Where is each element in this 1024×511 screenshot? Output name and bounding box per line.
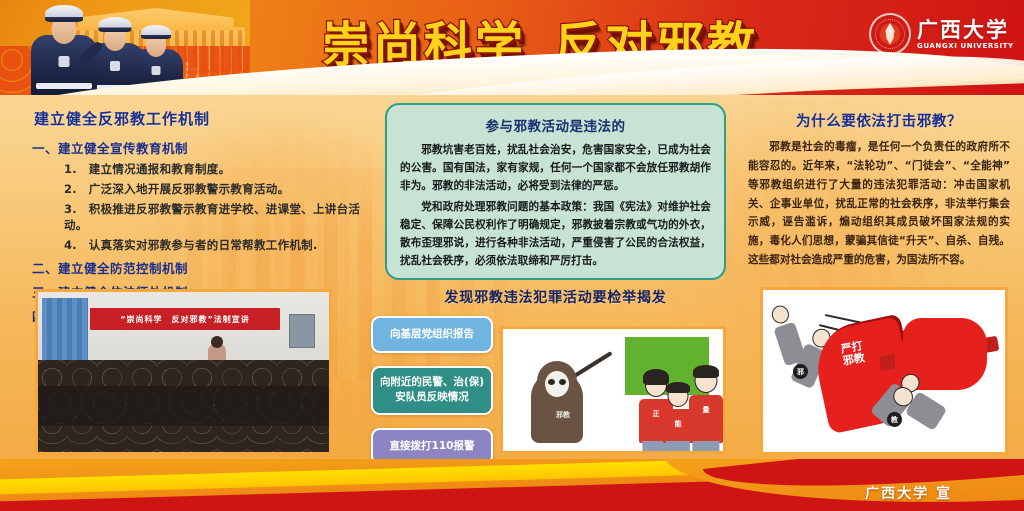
left-subitem-1-2: 2. 广泛深入地开展反邪教警示教育活动。	[64, 181, 372, 197]
cult-victim-label-xie: 邪	[793, 364, 808, 379]
police-officer-1-saluting	[28, 17, 100, 95]
left-subitem-1-1: 1. 建立情况通报和教育制度。	[64, 161, 372, 177]
hero-3-hair-icon	[693, 365, 719, 378]
hero-2-hair-icon	[666, 382, 690, 393]
left-subitem-1-4: 4. 认真落实对邪教参与者的日常帮教工作机制.	[64, 237, 372, 253]
cult-vs-positive-energy-cartoon: 邪教 正 量 能	[500, 326, 726, 454]
lecture-banner-text: “崇尚科学 反对邪教”法制宣讲	[120, 314, 250, 325]
footer-bar: 广西大学 宣	[0, 459, 1024, 511]
guangxi-university-emblem-icon	[869, 13, 911, 55]
green-box-paragraph-1: 邪教坑害老百姓，扰乱社会治安，危害国家安全，已成为社会的公害。国有国法，家有家规…	[400, 141, 711, 196]
hero-figure-2: 能	[663, 409, 693, 443]
left-item-1: 一、建立健全宣传教育机制	[32, 138, 372, 157]
right-column: 为什么要依法打击邪教？ 邪教是社会的毒瘤，是任何一个负责任的政府所不能容忍的。近…	[748, 110, 1010, 270]
hero-1-hair-icon	[643, 369, 669, 385]
crackdown-cartoon: 邪 严打邪教 教	[760, 287, 1008, 455]
lecture-banner: “崇尚科学 反对邪教”法制宣讲	[90, 308, 280, 330]
logo-name-cn: 广西大学	[917, 19, 1014, 40]
report-button-party-organization[interactable]: 向基层党组织报告	[371, 316, 493, 353]
right-column-paragraph: 邪教是社会的毒瘤，是任何一个负责任的政府所不能容忍的。近年来，“法轮功”、“门徒…	[748, 138, 1010, 270]
report-heading: 发现邪教违法犯罪活动要检举揭发	[385, 287, 726, 307]
scythe-icon	[571, 351, 612, 379]
green-info-box: 参与邪教活动是违法的 邪教坑害老百姓，扰乱社会治安，危害国家安全，已成为社会的公…	[385, 103, 726, 280]
footer-attribution: 广西大学 宣	[865, 483, 952, 503]
axe-slogan-label: 严打邪教	[839, 340, 867, 368]
green-box-title: 参与邪教活动是违法的	[400, 115, 711, 135]
hero-2-legs	[666, 441, 690, 454]
logo-text-block: 广西大学 GUANGXI UNIVERSITY	[917, 19, 1014, 50]
hero-2-label: 能	[663, 419, 693, 429]
cult-victim-label-jiao: 教	[887, 412, 902, 427]
wall-poster-icon	[289, 314, 315, 348]
right-column-heading: 为什么要依法打击邪教？	[748, 110, 1010, 131]
left-item-2: 二、建立健全防范控制机制	[32, 258, 372, 277]
cult-victim-1-head-icon	[770, 303, 792, 325]
hero-figure-3: 量	[689, 395, 723, 443]
anti-cult-propaganda-poster: 崇尚科学 反对邪教 广西大学 GUANGXI UNIVERSITY 建立健全反邪…	[0, 0, 1024, 511]
lecture-photo: “崇尚科学 反对邪教”法制宣讲	[35, 289, 332, 455]
left-subitem-1-3: 3. 积极推进反邪教警示教育进学校、进课堂、上讲台活动。	[64, 201, 372, 233]
cult-victim-4	[905, 391, 948, 431]
hero-3-legs	[692, 441, 719, 454]
audience-heads	[38, 386, 329, 426]
report-button-local-police[interactable]: 向附近的民警、治(保)安队员反映情况	[371, 366, 493, 414]
hero-3-label: 量	[689, 405, 723, 415]
logo-name-en: GUANGXI UNIVERSITY	[917, 43, 1014, 50]
left-column-heading: 建立健全反邪教工作机制	[34, 108, 372, 129]
cult-figure-label: 邪教	[543, 411, 583, 419]
header-banner: 崇尚科学 反对邪教 广西大学 GUANGXI UNIVERSITY	[0, 0, 1024, 95]
cult-figure-skull-face-icon	[545, 371, 569, 397]
green-box-paragraph-2: 党和政府处理邪教问题的基本政策：我国《宪法》对维护社会稳定、保障公民权利作了明确…	[400, 198, 711, 271]
report-channel-buttons: 向基层党组织报告 向附近的民警、治(保)安队员反映情况 直接拨打110报警	[371, 316, 493, 478]
